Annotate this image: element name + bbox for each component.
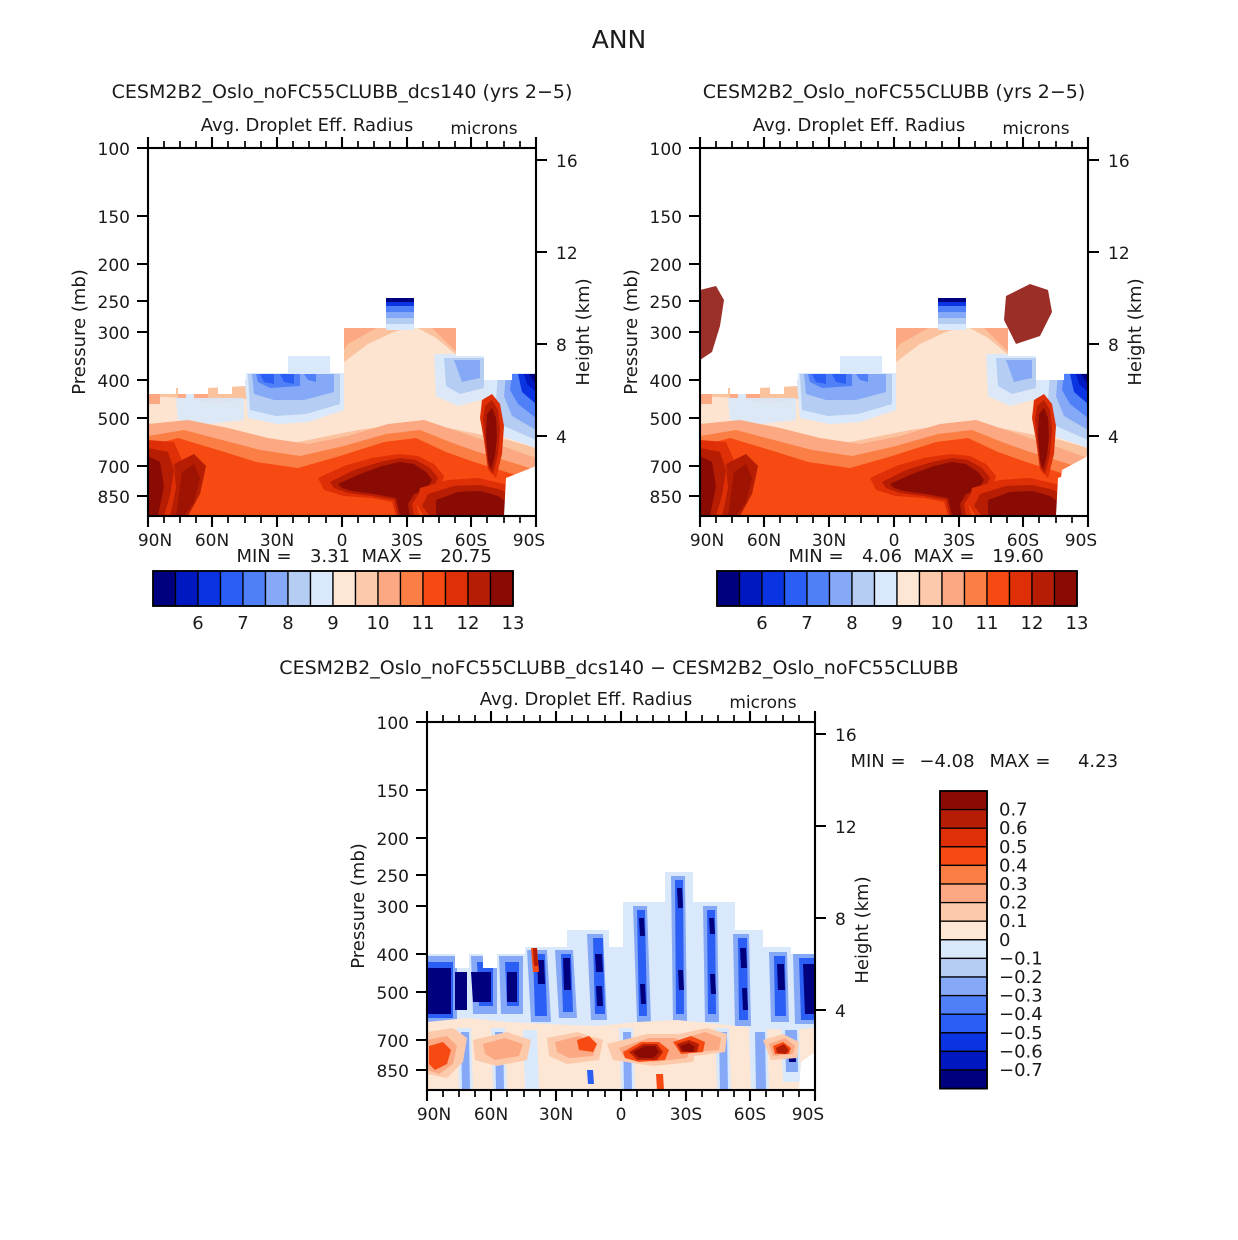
colorbar-cell[interactable] xyxy=(423,571,446,606)
colorbar-tick-label: 11 xyxy=(412,613,435,634)
contour-field-top-left xyxy=(148,148,540,516)
height-axis-label-top-right: Height (km) xyxy=(1125,278,1146,385)
lat-tick-90N: 90N xyxy=(138,531,172,551)
colorbar-cell[interactable] xyxy=(940,940,987,959)
minmax-top-left: MIN = 3.31 MAX = 20.75 xyxy=(236,546,491,567)
lat-tick-90S-right: 90S xyxy=(1065,531,1097,551)
pressure-tick-150-right: 150 xyxy=(650,208,682,228)
colorbar-tick-label: 6 xyxy=(756,613,767,634)
lat-tick-60N: 60N xyxy=(195,531,229,551)
height-tick-16-diff: 16 xyxy=(835,726,857,746)
colorbar-cell[interactable] xyxy=(942,571,965,606)
colorbar-cell[interactable] xyxy=(940,791,987,810)
lat-tick-90S-diff: 90S xyxy=(792,1105,824,1125)
pressure-tick-400-diff: 400 xyxy=(377,946,409,966)
height-tick-4-diff: 4 xyxy=(835,1002,846,1022)
pressure-tick-150-diff: 150 xyxy=(377,782,409,802)
max-label-top-left: MAX = xyxy=(362,546,423,567)
lat-tick-90N-right: 90N xyxy=(690,531,724,551)
colorbar-cell[interactable] xyxy=(446,571,469,606)
main-title: ANN xyxy=(592,25,647,54)
pressure-tick-850-right: 850 xyxy=(650,488,682,508)
pressure-tick-500-diff: 500 xyxy=(377,984,409,1004)
colorbar-cell[interactable] xyxy=(288,571,311,606)
colorbar-cell[interactable] xyxy=(807,571,830,606)
colorbar-cell[interactable] xyxy=(243,571,266,606)
height-axis-label-difference: Height (km) xyxy=(852,876,873,983)
pressure-tick-250-right: 250 xyxy=(650,293,682,313)
colorbar-cell[interactable] xyxy=(940,996,987,1015)
colorbar-cell[interactable] xyxy=(717,571,740,606)
colorbar-cell[interactable] xyxy=(153,571,176,606)
min-value-difference: −4.08 xyxy=(919,751,974,772)
lat-tick-30S-diff: 30S xyxy=(670,1105,702,1125)
height-tick-16: 16 xyxy=(556,152,578,172)
colorbar-tick-label: 8 xyxy=(282,613,293,634)
colorbar-cell[interactable] xyxy=(940,828,987,847)
pressure-tick-700: 700 xyxy=(98,458,130,478)
colorbar-cell[interactable] xyxy=(987,571,1010,606)
height-tick-12: 12 xyxy=(556,244,578,264)
colorbar-cell[interactable] xyxy=(940,1051,987,1070)
colorbar-cell[interactable] xyxy=(940,1033,987,1052)
colorbar-cell[interactable] xyxy=(378,571,401,606)
min-label-top-right: MIN = xyxy=(788,546,843,567)
colorbar-cell[interactable] xyxy=(940,810,987,829)
colorbar-cell[interactable] xyxy=(176,571,199,606)
colorbar-cell[interactable] xyxy=(940,1014,987,1033)
variable-label-top-left: Avg. Droplet Eff. Radius xyxy=(201,115,414,136)
colorbar-tick-label: 9 xyxy=(327,613,338,634)
colorbar-cells-top-left xyxy=(153,571,513,606)
colorbar-cell[interactable] xyxy=(1010,571,1033,606)
colorbar-cell[interactable] xyxy=(940,865,987,884)
minmax-top-right: MIN = 4.06 MAX = 19.60 xyxy=(788,546,1043,567)
max-value-difference: 4.23 xyxy=(1078,751,1118,772)
height-tick-8-diff: 8 xyxy=(835,910,846,930)
colorbar-cell[interactable] xyxy=(311,571,334,606)
pressure-tick-500: 500 xyxy=(98,410,130,430)
colorbar-cell[interactable] xyxy=(1055,571,1078,606)
colorbar-cell[interactable] xyxy=(785,571,808,606)
lat-tick-30N-diff: 30N xyxy=(539,1105,573,1125)
height-tick-8: 8 xyxy=(556,336,567,356)
pressure-tick-700-right: 700 xyxy=(650,458,682,478)
pressure-axis-label-difference: Pressure (mb) xyxy=(348,843,369,969)
pressure-tick-100-diff: 100 xyxy=(377,714,409,734)
variable-label-difference: Avg. Droplet Eff. Radius xyxy=(480,689,693,710)
pressure-tick-850-diff: 850 xyxy=(377,1062,409,1082)
colorbar-cell[interactable] xyxy=(940,921,987,940)
max-value-top-right: 19.60 xyxy=(992,546,1044,567)
pressure-tick-300-right: 300 xyxy=(650,324,682,344)
lat-tick-60N-diff: 60N xyxy=(474,1105,508,1125)
pressure-tick-200-diff: 200 xyxy=(377,830,409,850)
pressure-tick-400-right: 400 xyxy=(650,372,682,392)
colorbar-cell[interactable] xyxy=(221,571,244,606)
colorbar-cell[interactable] xyxy=(740,571,763,606)
lat-tick-60N-right: 60N xyxy=(747,531,781,551)
colorbar-cell[interactable] xyxy=(940,847,987,866)
colorbar-tick-label: 10 xyxy=(931,613,954,634)
pressure-axis-label-top-right: Pressure (mb) xyxy=(621,269,642,395)
pressure-tick-250-diff: 250 xyxy=(377,867,409,887)
colorbar-tick-label: 13 xyxy=(502,613,525,634)
figure-canvas: ANN CESM2B2_Oslo_noFC55CLUBB_dcs140 (yrs… xyxy=(0,0,1238,1240)
colorbar-cell[interactable] xyxy=(852,571,875,606)
colorbar-cell[interactable] xyxy=(940,958,987,977)
colorbar-tick-label: 7 xyxy=(237,613,248,634)
colorbar-cell[interactable] xyxy=(830,571,853,606)
height-tick-4: 4 xyxy=(556,428,567,448)
colorbar-cells-top-right xyxy=(717,571,1077,606)
max-label-top-right: MAX = xyxy=(914,546,975,567)
pressure-tick-100: 100 xyxy=(98,140,130,160)
contour-field-difference xyxy=(427,722,815,1090)
units-label-top-left: microns xyxy=(450,119,517,139)
variable-label-top-right: Avg. Droplet Eff. Radius xyxy=(753,115,966,136)
colorbar-tick-label: −0.7 xyxy=(999,1060,1043,1081)
pressure-tick-850: 850 xyxy=(98,488,130,508)
colorbar-cell[interactable] xyxy=(266,571,289,606)
pressure-tick-300-diff: 300 xyxy=(377,898,409,918)
height-tick-12-right: 12 xyxy=(1108,244,1130,264)
min-value-top-left: 3.31 xyxy=(310,546,350,567)
colorbar-cell[interactable] xyxy=(940,884,987,903)
min-label-top-left: MIN = xyxy=(236,546,291,567)
figure-root: ANN CESM2B2_Oslo_noFC55CLUBB_dcs140 (yrs… xyxy=(0,0,1238,1240)
height-tick-8-right: 8 xyxy=(1108,336,1119,356)
colorbar-cell[interactable] xyxy=(468,571,491,606)
max-value-top-left: 20.75 xyxy=(440,546,492,567)
height-tick-16-right: 16 xyxy=(1108,152,1130,172)
colorbar-cell[interactable] xyxy=(762,571,785,606)
min-value-top-right: 4.06 xyxy=(862,546,902,567)
colorbar-tick-label: 13 xyxy=(1066,613,1089,634)
colorbar-cell[interactable] xyxy=(401,571,424,606)
pressure-tick-150: 150 xyxy=(98,208,130,228)
colorbar-tick-label: 8 xyxy=(846,613,857,634)
lat-tick-60S-diff: 60S xyxy=(734,1105,766,1125)
pressure-tick-250: 250 xyxy=(98,293,130,313)
pressure-tick-700-diff: 700 xyxy=(377,1032,409,1052)
colorbar-cell[interactable] xyxy=(920,571,943,606)
panel-title-top-left: CESM2B2_Oslo_noFC55CLUBB_dcs140 (yrs 2−5… xyxy=(112,81,573,103)
colorbar-tick-label: 12 xyxy=(457,613,480,634)
colorbar-tick-label: 6 xyxy=(192,613,203,634)
units-label-top-right: microns xyxy=(1002,119,1069,139)
pressure-axis-label-top-left: Pressure (mb) xyxy=(69,269,90,395)
pressure-tick-500-right: 500 xyxy=(650,410,682,430)
height-tick-4-right: 4 xyxy=(1108,428,1119,448)
colorbar-cell[interactable] xyxy=(875,571,898,606)
colorbar-tick-label: 12 xyxy=(1021,613,1044,634)
pressure-tick-200-right: 200 xyxy=(650,256,682,276)
max-label-difference: MAX = xyxy=(990,751,1051,772)
colorbar-cell[interactable] xyxy=(198,571,221,606)
height-tick-12-diff: 12 xyxy=(835,818,857,838)
colorbar-cell[interactable] xyxy=(491,571,514,606)
min-label-difference: MIN = xyxy=(850,751,905,772)
pressure-tick-200: 200 xyxy=(98,256,130,276)
colorbar-cell[interactable] xyxy=(333,571,356,606)
lat-tick-0-diff: 0 xyxy=(616,1105,627,1125)
panel-title-top-right: CESM2B2_Oslo_noFC55CLUBB (yrs 2−5) xyxy=(703,81,1086,103)
colorbar-cell[interactable] xyxy=(897,571,920,606)
colorbar-cell[interactable] xyxy=(356,571,379,606)
colorbar-cells-difference xyxy=(940,791,987,1089)
colorbar-cell[interactable] xyxy=(965,571,988,606)
panel-title-difference: CESM2B2_Oslo_noFC55CLUBB_dcs140 − CESM2B… xyxy=(279,657,958,679)
colorbar-tick-label: 11 xyxy=(976,613,999,634)
colorbar-tick-label: 7 xyxy=(801,613,812,634)
lat-tick-90N-diff: 90N xyxy=(417,1105,451,1125)
colorbar-tick-label: 10 xyxy=(367,613,390,634)
height-axis-label-top-left: Height (km) xyxy=(573,278,594,385)
contour-field-top-right xyxy=(700,148,1092,516)
pressure-tick-300: 300 xyxy=(98,324,130,344)
colorbar-cell[interactable] xyxy=(940,903,987,922)
lat-tick-90S: 90S xyxy=(513,531,545,551)
pressure-tick-100-right: 100 xyxy=(650,140,682,160)
pressure-tick-400: 400 xyxy=(98,372,130,392)
colorbar-tick-label: 9 xyxy=(891,613,902,634)
colorbar-cell[interactable] xyxy=(940,977,987,996)
colorbar-cell[interactable] xyxy=(1032,571,1055,606)
units-label-difference: microns xyxy=(729,693,796,713)
colorbar-cell[interactable] xyxy=(940,1070,987,1089)
